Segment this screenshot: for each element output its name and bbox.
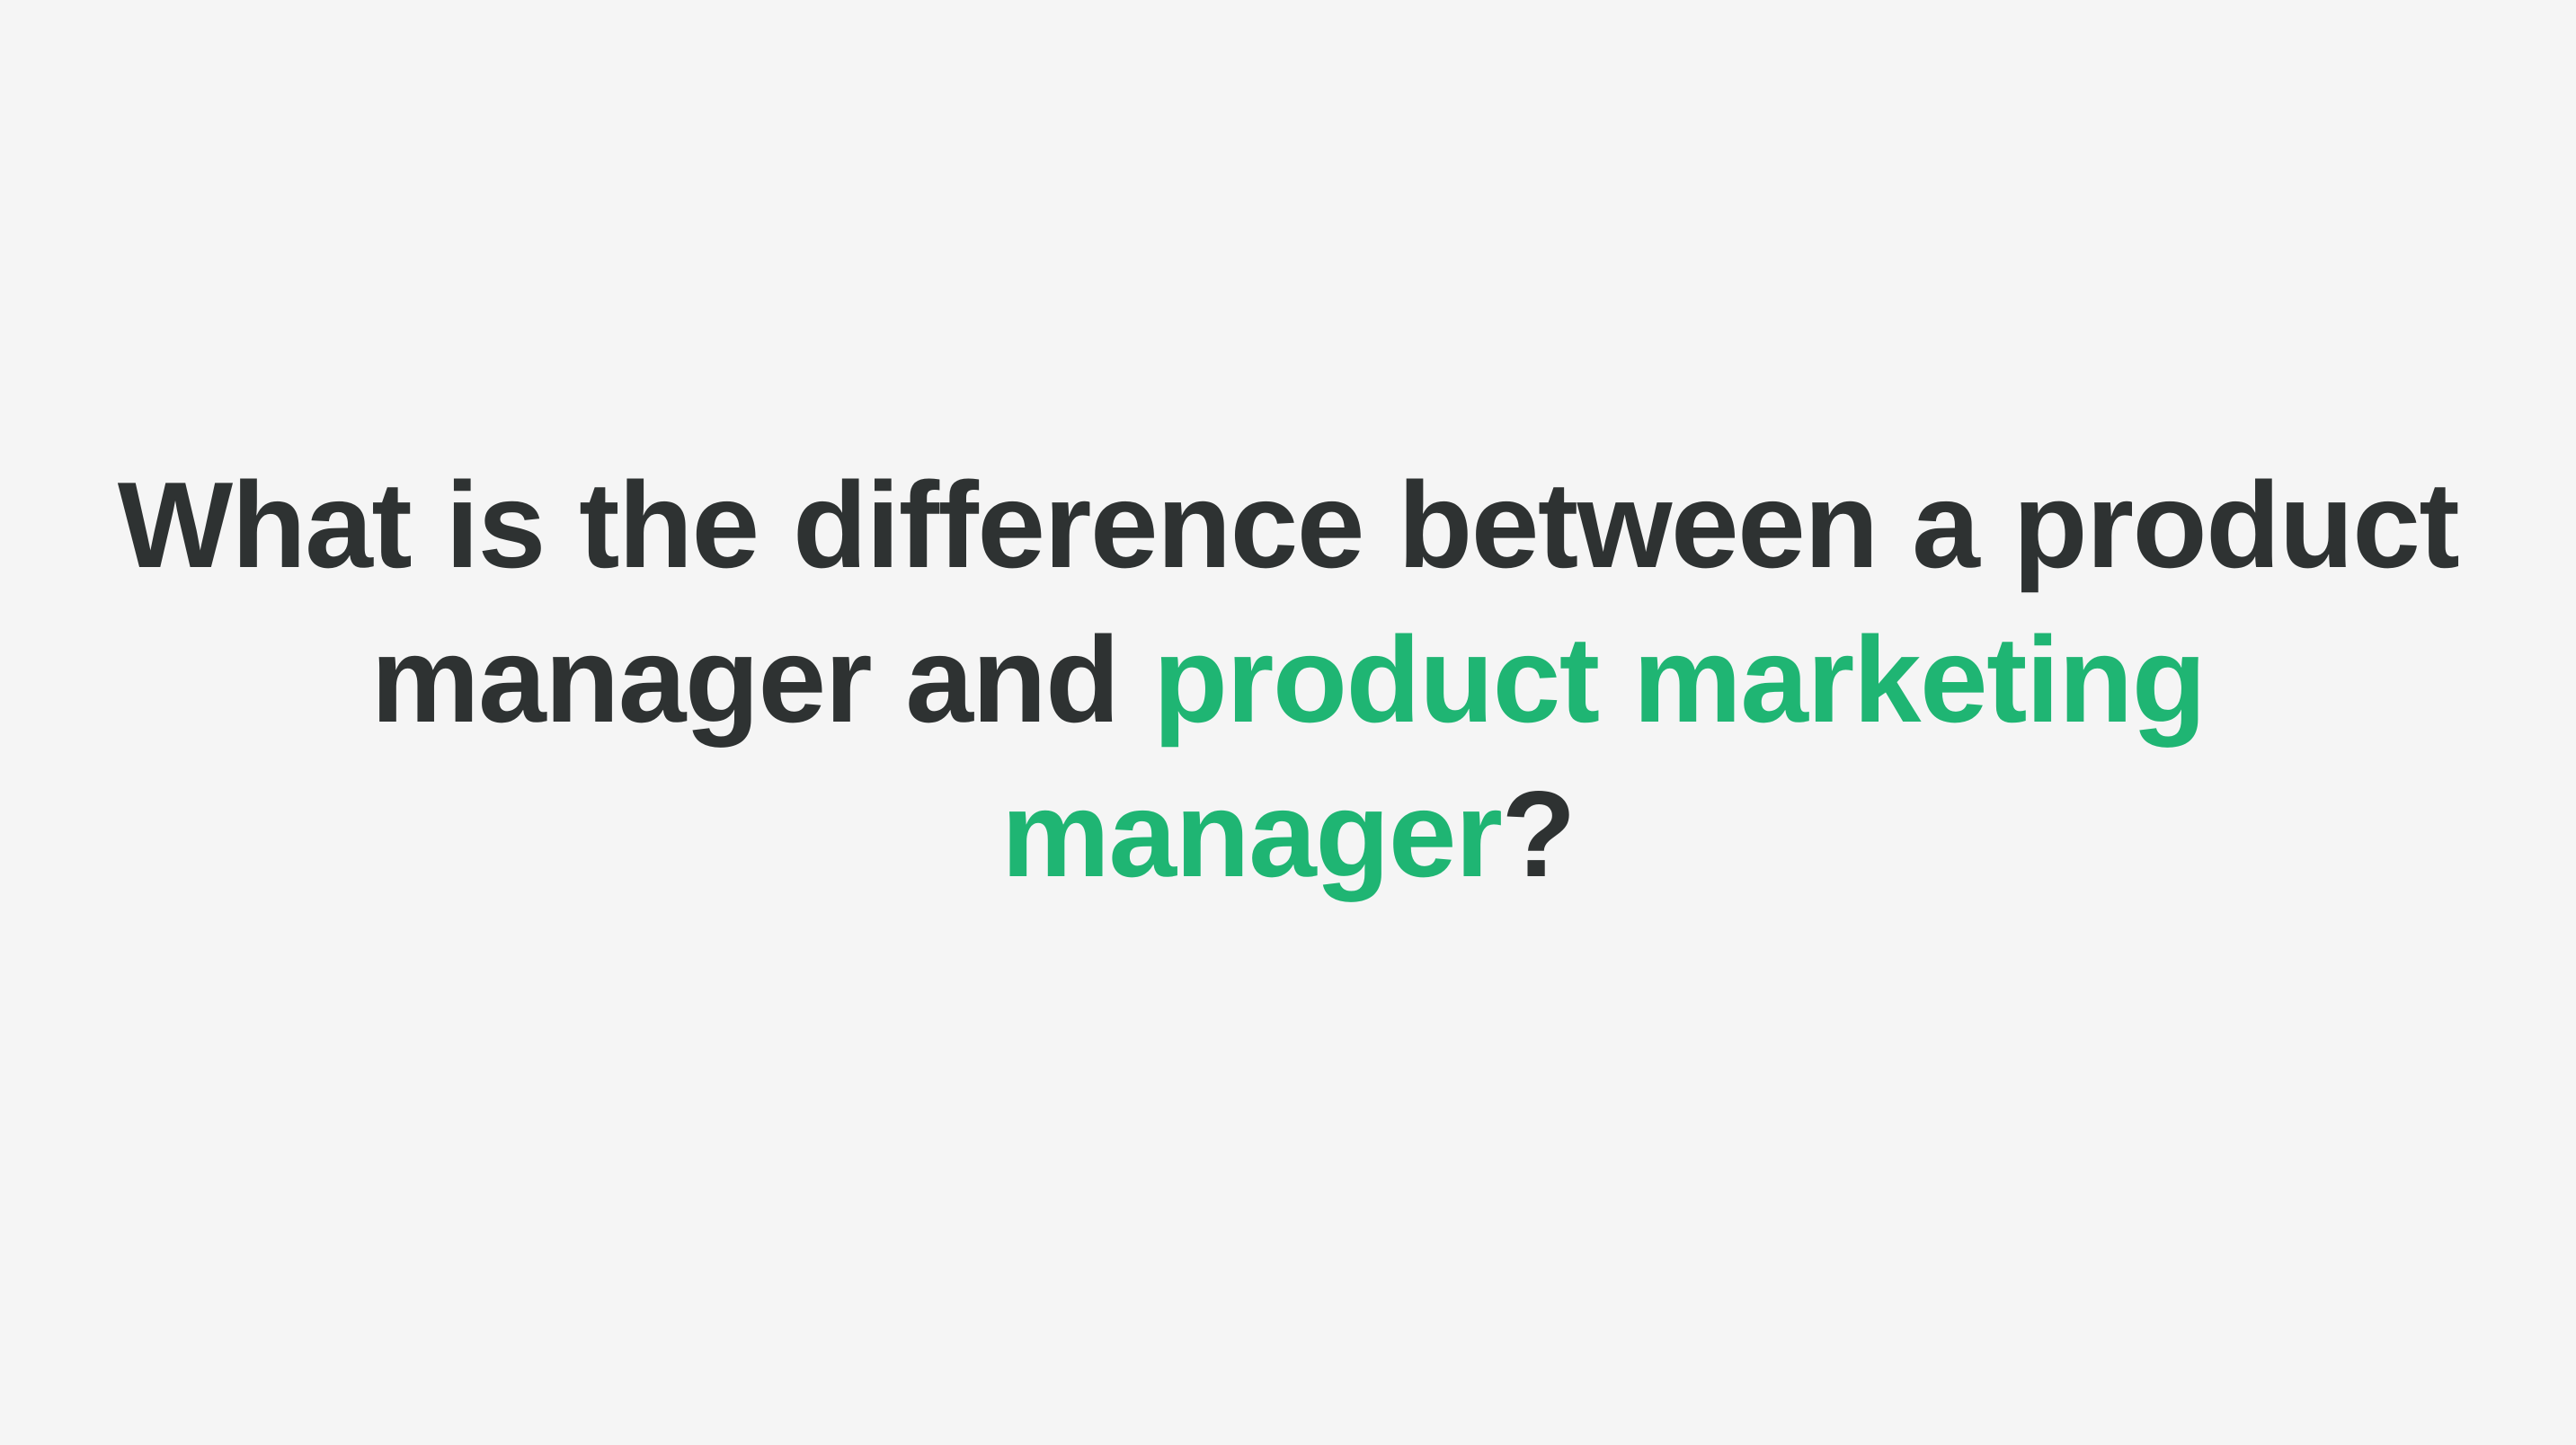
headline-segment-default-2: ? — [1501, 766, 1575, 902]
headline-block: What is the difference between a product… — [75, 448, 2501, 911]
headline-segment-accent-1: product marketing manager — [1001, 611, 2205, 902]
slide-canvas: What is the difference between a product… — [0, 0, 2576, 1445]
page-title: What is the difference between a product… — [75, 448, 2501, 911]
